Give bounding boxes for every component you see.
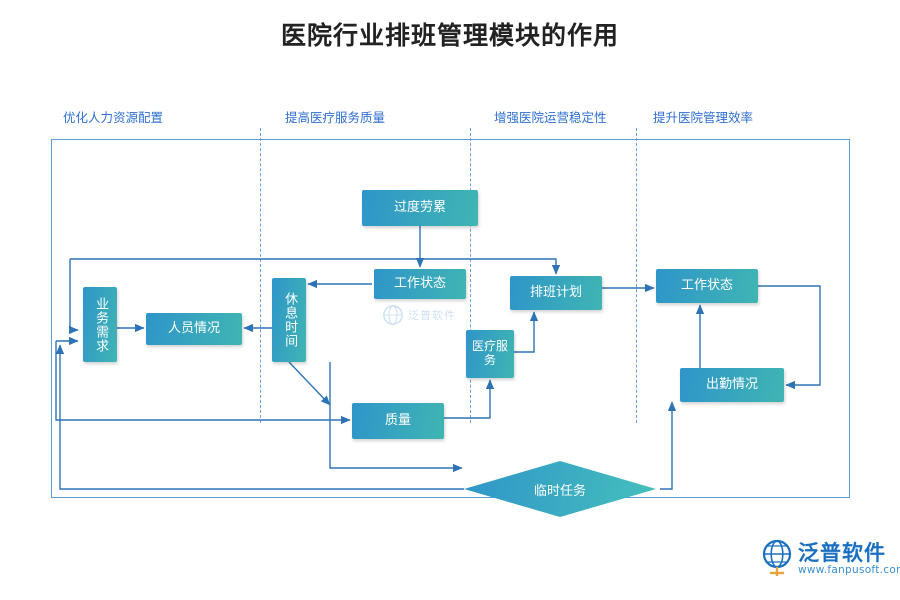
- node-work-status-middle[interactable]: 工作状态: [374, 269, 466, 299]
- page-title: 医院行业排班管理模块的作用: [0, 16, 900, 52]
- brand-logo: 泛普软件 www.fanpusoft.com: [762, 537, 894, 585]
- center-watermark: 泛普软件: [382, 300, 522, 330]
- brand-url: www.fanpusoft.com: [798, 564, 900, 576]
- brand-name: 泛普软件: [798, 537, 886, 567]
- node-attendance[interactable]: 出勤情况: [680, 368, 784, 402]
- center-watermark-text: 泛普软件: [408, 307, 456, 323]
- watermark-globe-icon: [382, 304, 404, 326]
- globe-icon: [762, 537, 796, 577]
- node-business-demand[interactable]: 业务需求: [83, 287, 117, 362]
- lane-label-2: 提高医疗服务质量: [285, 107, 385, 126]
- node-rest-time[interactable]: 休息时间: [272, 278, 306, 362]
- lane-label-3: 增强医院运营稳定性: [494, 107, 607, 126]
- node-quality[interactable]: 质量: [352, 403, 444, 439]
- lane-label-1: 优化人力资源配置: [63, 107, 163, 126]
- node-schedule-plan[interactable]: 排班计划: [510, 276, 602, 310]
- node-medical-service[interactable]: 医疗服务: [466, 330, 514, 378]
- node-over-fatigue[interactable]: 过度劳累: [362, 190, 478, 226]
- node-staff-situation[interactable]: 人员情况: [146, 313, 242, 345]
- diagram-canvas: 医院行业排班管理模块的作用 优化人力资源配置 提高医疗服务质量 增强医院运营稳定…: [0, 0, 900, 600]
- lane-label-4: 提升医院管理效率: [653, 107, 753, 126]
- node-work-status-right[interactable]: 工作状态: [656, 269, 758, 303]
